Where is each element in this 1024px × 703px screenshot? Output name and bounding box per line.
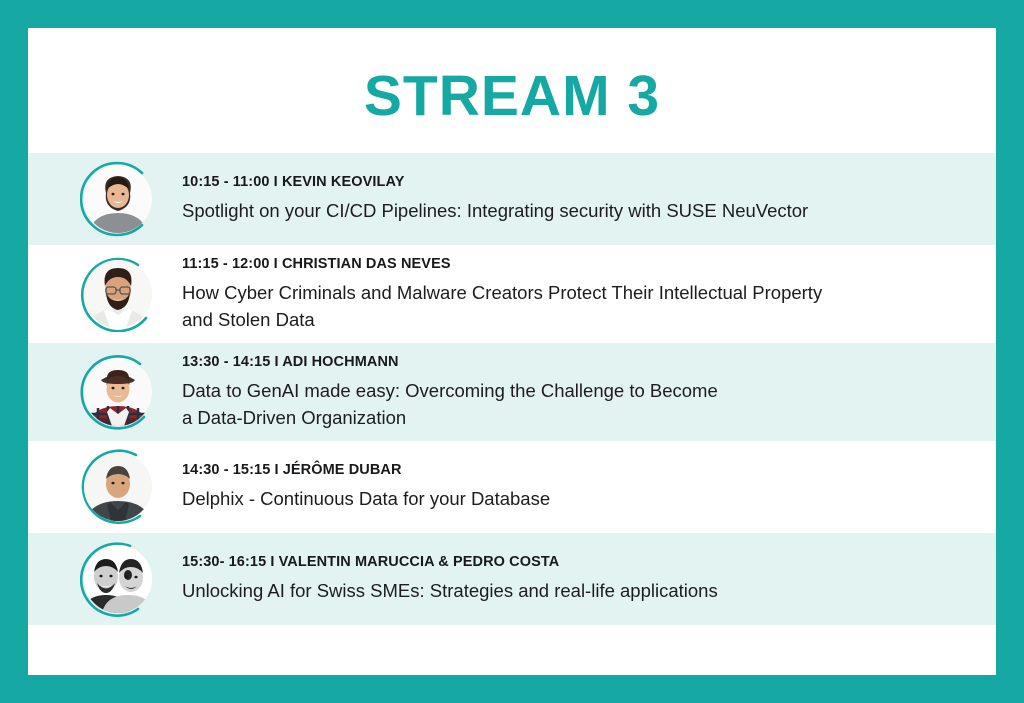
- session-text: 15:30- 16:15 I VALENTIN MARUCCIA & PEDRO…: [182, 553, 996, 604]
- session-meta: 11:15 - 12:00 I CHRISTIAN DAS NEVES: [182, 255, 996, 273]
- session-meta: 15:30- 16:15 I VALENTIN MARUCCIA & PEDRO…: [182, 553, 996, 571]
- speaker-avatar-jerome-dubar: [80, 449, 156, 525]
- session-meta: 14:30 - 15:15 I JÉRÔME DUBAR: [182, 461, 996, 479]
- session-text: 10:15 - 11:00 I KEVIN KEOVILAY Spotlight…: [182, 173, 996, 224]
- speaker-avatar-adi-hochmann: [80, 354, 156, 430]
- speaker-avatar-valentin-maruccia-pedro-costa: [80, 541, 156, 617]
- session-meta: 10:15 - 11:00 I KEVIN KEOVILAY: [182, 173, 996, 191]
- avatar-photo: [84, 545, 152, 613]
- schedule-card: STREAM 3: [28, 28, 996, 675]
- session-row[interactable]: 15:30- 16:15 I VALENTIN MARUCCIA & PEDRO…: [28, 533, 996, 625]
- session-talk-line: a Data-Driven Organization: [182, 405, 996, 431]
- session-row[interactable]: 11:15 - 12:00 I CHRISTIAN DAS NEVES How …: [28, 245, 996, 343]
- session-talk-line: and Stolen Data: [182, 307, 996, 333]
- page-title: STREAM 3: [28, 28, 996, 125]
- avatar-photo: [84, 358, 152, 426]
- session-row[interactable]: 10:15 - 11:00 I KEVIN KEOVILAY Spotlight…: [28, 153, 996, 245]
- session-list: 10:15 - 11:00 I KEVIN KEOVILAY Spotlight…: [28, 153, 996, 625]
- avatar-photo: [84, 165, 152, 233]
- session-talk-line: Delphix - Continuous Data for your Datab…: [182, 486, 996, 512]
- session-meta: 13:30 - 14:15 I ADI HOCHMANN: [182, 353, 996, 371]
- session-text: 11:15 - 12:00 I CHRISTIAN DAS NEVES How …: [182, 255, 996, 333]
- avatar-photo: [84, 260, 152, 328]
- session-talk-line: How Cyber Criminals and Malware Creators…: [182, 280, 996, 306]
- session-text: 13:30 - 14:15 I ADI HOCHMANN Data to Gen…: [182, 353, 996, 431]
- speaker-avatar-kevin-keovilay: [80, 161, 156, 237]
- session-talk-line: Unlocking AI for Swiss SMEs: Strategies …: [182, 578, 996, 604]
- session-talk-line: Data to GenAI made easy: Overcoming the …: [182, 378, 996, 404]
- session-text: 14:30 - 15:15 I JÉRÔME DUBAR Delphix - C…: [182, 461, 996, 512]
- session-talk-line: Spotlight on your CI/CD Pipelines: Integ…: [182, 198, 996, 224]
- session-row[interactable]: 13:30 - 14:15 I ADI HOCHMANN Data to Gen…: [28, 343, 996, 441]
- session-row[interactable]: 14:30 - 15:15 I JÉRÔME DUBAR Delphix - C…: [28, 441, 996, 533]
- speaker-avatar-christian-das-neves: [80, 256, 156, 332]
- avatar-photo: [84, 453, 152, 521]
